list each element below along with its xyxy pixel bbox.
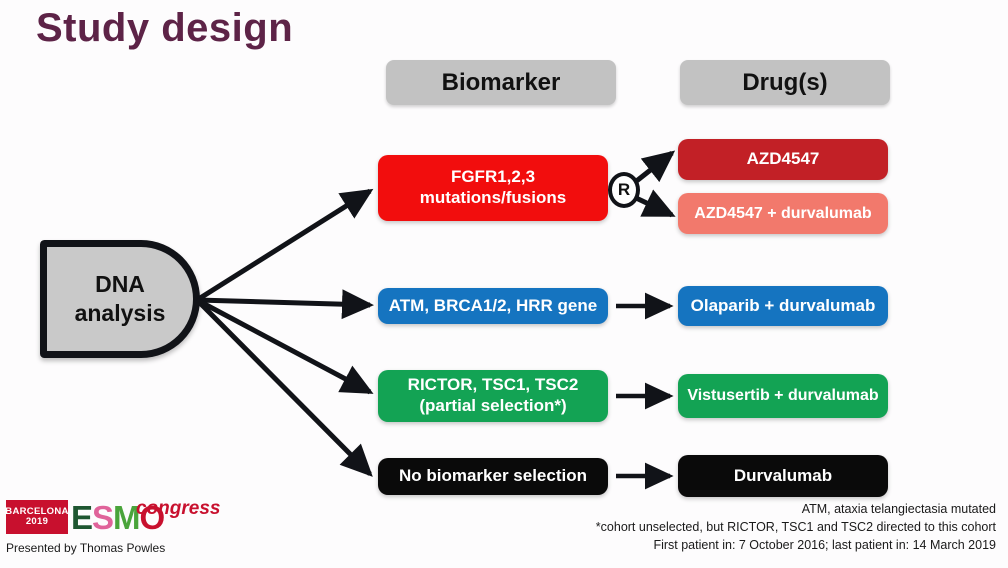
column-header-drugs-label: Drug(s)	[742, 69, 827, 97]
biomarker-atm-label: ATM, BRCA1/2, HRR gene	[389, 296, 597, 317]
drug-azd4547-durvalumab-label: AZD4547 + durvalumab	[694, 204, 871, 224]
logo-year-label: 2019	[26, 517, 48, 527]
logo-barcelona-badge: BARCELONA 2019	[6, 500, 68, 534]
biomarker-no-selection-label: No biomarker selection	[399, 466, 587, 487]
arrow-rand-to-azd4547-durvalumab	[634, 197, 672, 215]
randomization-circle: R	[608, 172, 640, 208]
drug-box-azd4547: AZD4547	[678, 139, 888, 180]
biomarker-rictor-line2: (partial selection*)	[419, 396, 566, 417]
drug-box-olaparib-durvalumab: Olaparib + durvalumab	[678, 286, 888, 326]
arrow-dna-to-fgfr	[197, 191, 370, 300]
logo-row: BARCELONA 2019 E S M O congress	[6, 500, 236, 536]
logo-congress-label: congress	[136, 498, 220, 520]
column-header-biomarker-label: Biomarker	[442, 69, 561, 97]
biomarker-box-rictor: RICTOR, TSC1, TSC2 (partial selection*)	[378, 370, 608, 422]
drug-box-durvalumab: Durvalumab	[678, 455, 888, 497]
footnote-cohort-selection: *cohort unselected, but RICTOR, TSC1 and…	[596, 518, 996, 536]
arrow-dna-to-atm	[197, 300, 370, 305]
footnotes: ATM, ataxia telangiectasia mutated *coho…	[596, 500, 996, 554]
drug-durvalumab-label: Durvalumab	[734, 466, 832, 487]
arrow-dna-to-none	[197, 300, 370, 474]
footnote-patient-dates: First patient in: 7 October 2016; last p…	[596, 536, 996, 554]
randomization-label: R	[618, 180, 630, 200]
biomarker-box-atm: ATM, BRCA1/2, HRR gene	[378, 288, 608, 324]
presented-by-label: Presented by Thomas Powles	[6, 541, 236, 555]
dna-analysis-line2: analysis	[75, 299, 166, 328]
esmo-congress-logo: BARCELONA 2019 E S M O congress Presente…	[6, 500, 236, 564]
biomarker-fgfr-line1: FGFR1,2,3	[451, 167, 535, 188]
column-header-drugs: Drug(s)	[680, 60, 890, 105]
biomarker-box-fgfr: FGFR1,2,3 mutations/fusions	[378, 155, 608, 221]
arrow-rand-to-azd4547	[634, 153, 672, 183]
drug-olaparib-durvalumab-label: Olaparib + durvalumab	[691, 296, 876, 317]
dna-analysis-node: DNA analysis	[40, 240, 200, 358]
biomarker-rictor-line1: RICTOR, TSC1, TSC2	[408, 375, 579, 396]
footnote-atm-abbreviation: ATM, ataxia telangiectasia mutated	[596, 500, 996, 518]
logo-letter-e: E	[71, 501, 92, 534]
biomarker-box-no-selection: No biomarker selection	[378, 458, 608, 495]
biomarker-fgfr-line2: mutations/fusions	[420, 188, 566, 209]
column-header-biomarker: Biomarker	[386, 60, 616, 105]
slide-canvas: Study design Biomarker Drug(s) DNA analy…	[0, 0, 1008, 568]
drug-vistusertib-durvalumab-label: Vistusertib + durvalumab	[687, 386, 878, 406]
arrow-dna-to-rictor	[197, 300, 370, 392]
drug-azd4547-label: AZD4547	[747, 149, 820, 170]
drug-box-vistusertib-durvalumab: Vistusertib + durvalumab	[678, 374, 888, 418]
dna-analysis-line1: DNA	[95, 270, 145, 299]
logo-letter-s: S	[92, 501, 113, 534]
page-title: Study design	[36, 6, 293, 51]
drug-box-azd4547-durvalumab: AZD4547 + durvalumab	[678, 193, 888, 234]
